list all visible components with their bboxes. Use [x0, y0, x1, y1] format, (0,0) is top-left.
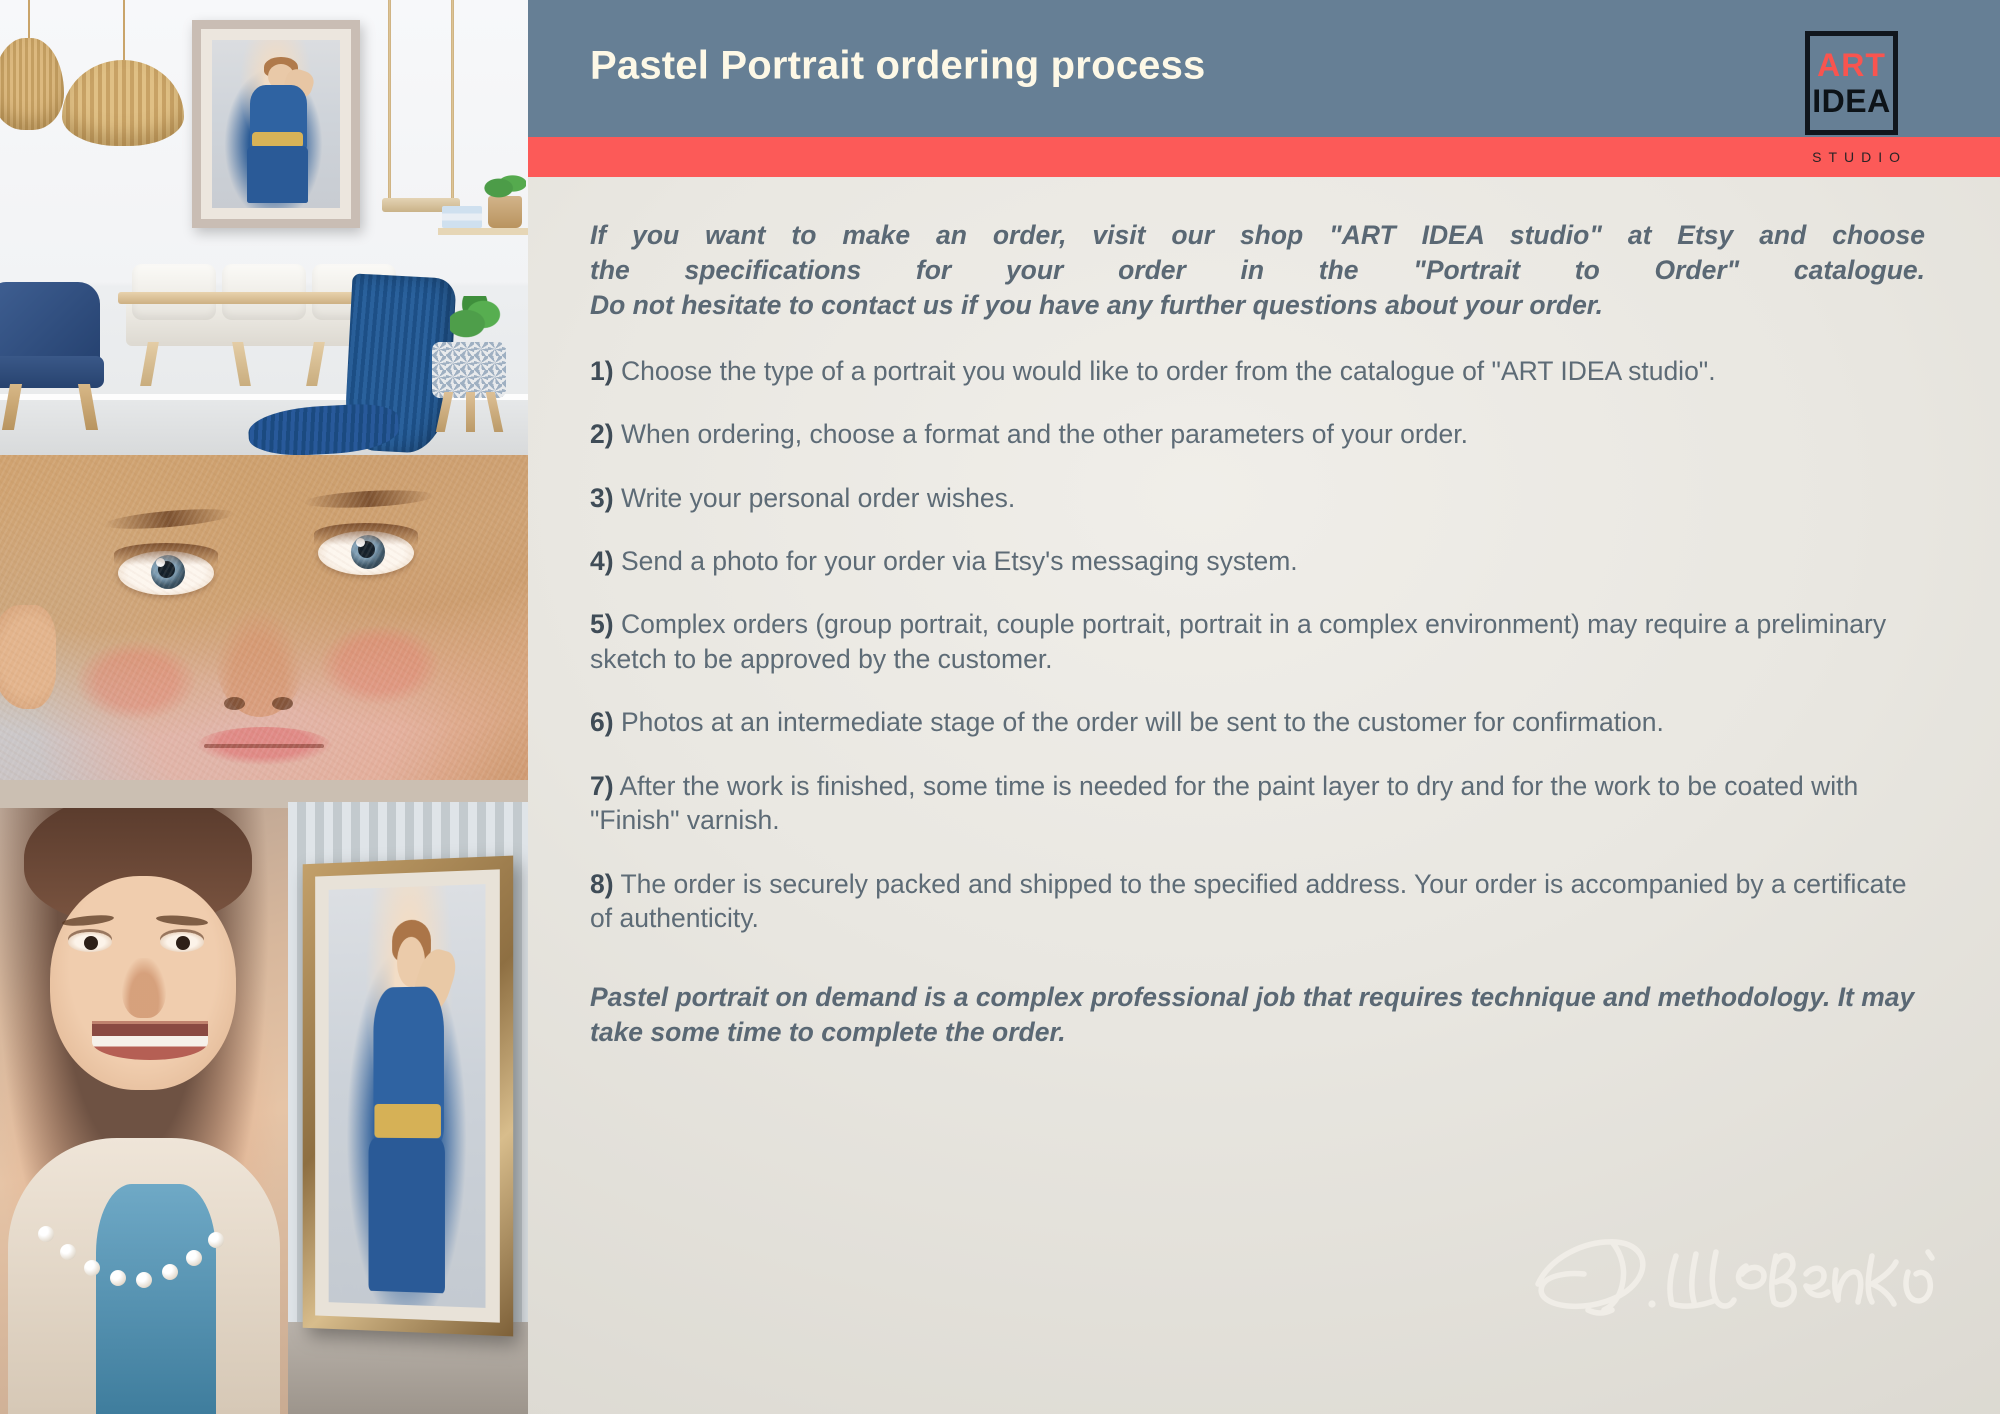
outro-paragraph: Pastel portrait on demand is a complex p… [590, 980, 1930, 1050]
photo-bottom-row [0, 780, 528, 1414]
step-number: 4) [590, 546, 614, 576]
body-text: If you want to make an order, visit our … [590, 218, 1930, 1050]
step-number: 7) [590, 771, 614, 801]
step-item: 8) The order is securely packed and ship… [590, 867, 1930, 936]
art-idea-logo: ART IDEA [1805, 31, 1898, 135]
step-item: 2) When ordering, choose a format and th… [590, 417, 1930, 451]
step-number: 1) [590, 356, 614, 386]
step-text: When ordering, choose a format and the o… [621, 419, 1468, 449]
intro-line-1: If you want to make an order, visit our … [590, 218, 1925, 253]
pearl-necklace [34, 1214, 234, 1294]
header-bar: Pastel Portrait ordering process ART IDE… [528, 0, 2000, 137]
pastel-texture-overlay [0, 455, 528, 780]
photo-column [0, 0, 528, 1414]
step-item: 6) Photos at an intermediate stage of th… [590, 705, 1930, 739]
intro-line-3: Do not hesitate to contact us if you hav… [590, 288, 1925, 323]
framed-pastel-portrait-on-wall [192, 20, 360, 228]
intro-line-2: the specifications for your order in the… [590, 253, 1925, 288]
plant-on-stool [432, 330, 506, 432]
photo-close-up-child-pastel-portrait [0, 455, 528, 780]
step-item: 4) Send a photo for your order via Etsy'… [590, 544, 1930, 578]
photo-living-room-with-framed-pastel-portrait [0, 0, 528, 455]
logo-art-text: ART [1817, 49, 1886, 81]
step-number: 3) [590, 483, 614, 513]
books [442, 206, 482, 228]
step-text: Complex orders (group portrait, couple p… [590, 609, 1886, 673]
step-number: 6) [590, 707, 614, 737]
accent-bar: STUDIO [528, 137, 2000, 177]
photo-framed-pastel-portrait-on-floor [288, 802, 528, 1414]
step-number: 8) [590, 869, 614, 899]
gold-picture-frame [303, 856, 513, 1337]
wall-shelf [438, 228, 528, 235]
logo-tagline: STUDIO [1812, 149, 1907, 165]
step-text: Choose the type of a portrait you would … [621, 356, 1716, 386]
photo-elderly-woman-pastel-portrait [0, 808, 288, 1414]
intro-paragraph: If you want to make an order, visit our … [590, 218, 1925, 324]
step-item: 3) Write your personal order wishes. [590, 481, 1930, 515]
content-panel: Pastel Portrait ordering process ART IDE… [528, 0, 2000, 1414]
step-number: 5) [590, 609, 614, 639]
step-item: 7) After the work is finished, some time… [590, 769, 1930, 838]
step-text: Photos at an intermediate stage of the o… [621, 707, 1664, 737]
step-item: 1) Choose the type of a portrait you wou… [590, 354, 1930, 388]
small-potted-plant [488, 196, 522, 228]
blue-armchair [0, 282, 108, 432]
step-text: The order is securely packed and shipped… [590, 869, 1906, 933]
step-text: Send a photo for your order via Etsy's m… [621, 546, 1298, 576]
outro-line-1: Pastel portrait on demand is a complex p… [590, 982, 1596, 1012]
step-item: 5) Complex orders (group portrait, coupl… [590, 607, 1930, 676]
step-text: After the work is finished, some time is… [590, 771, 1858, 835]
step-number: 2) [590, 419, 614, 449]
step-text: Write your personal order wishes. [621, 483, 1015, 513]
page-title: Pastel Portrait ordering process [590, 44, 1205, 89]
slide: Pastel Portrait ordering process ART IDE… [0, 0, 2000, 1414]
artist-signature [1480, 1212, 1980, 1342]
logo-idea-text: IDEA [1812, 85, 1890, 117]
